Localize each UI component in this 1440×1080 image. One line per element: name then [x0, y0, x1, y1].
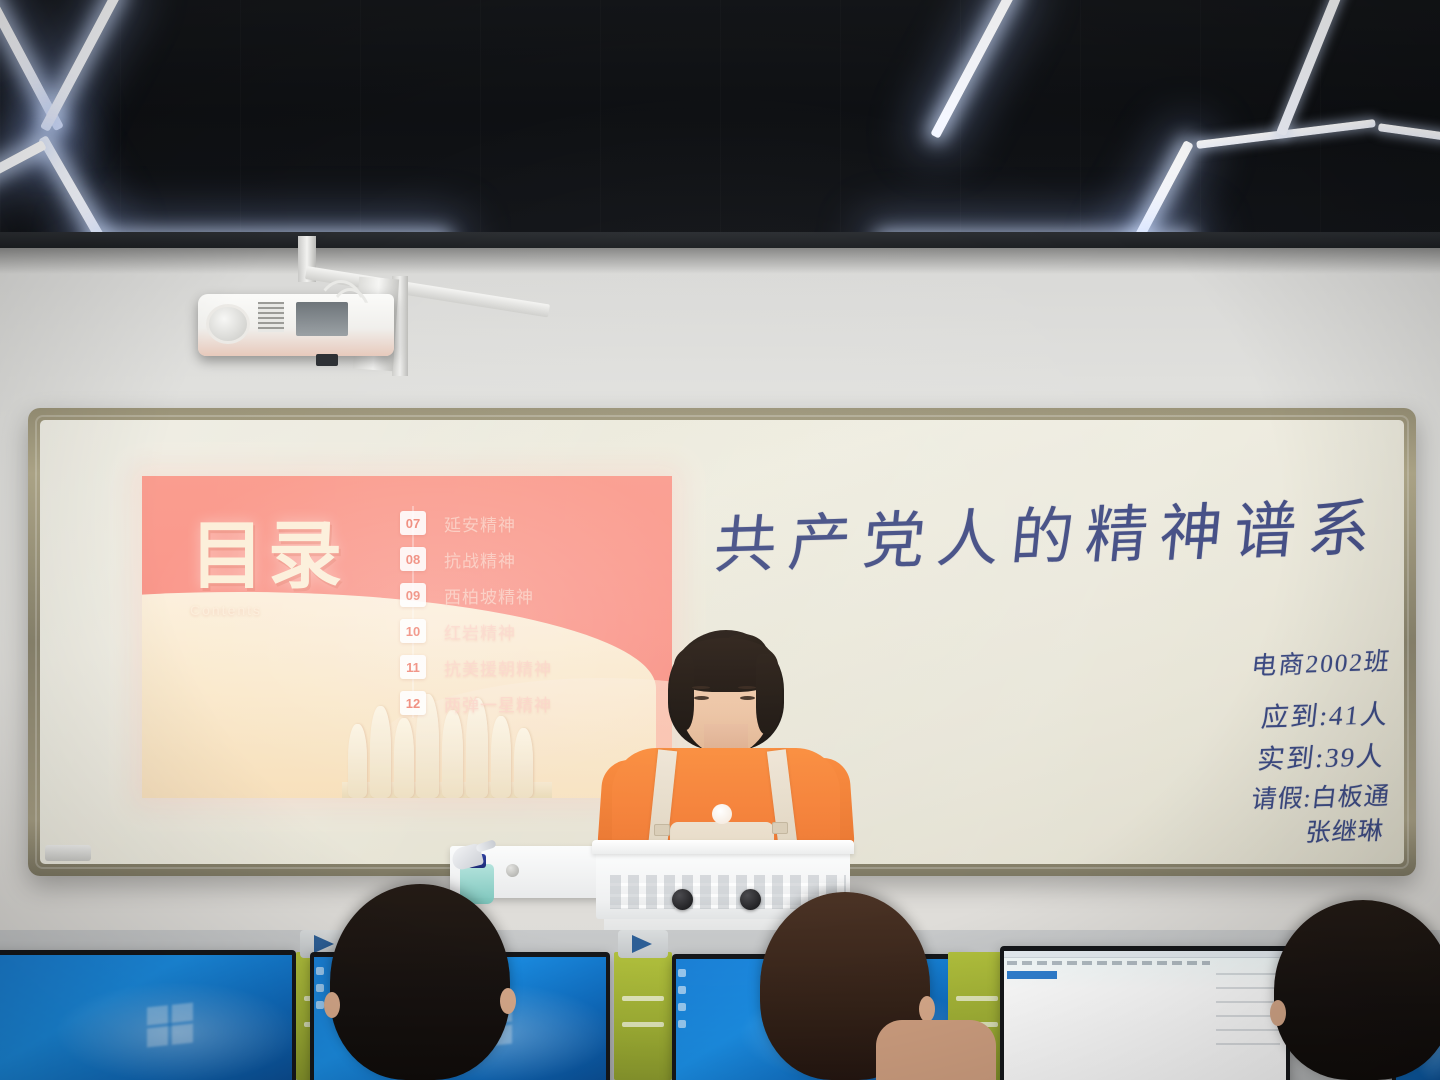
- app-toolbar[interactable]: [1007, 961, 1210, 965]
- monument-figure: [442, 710, 463, 798]
- slide-title-block: 目录 Contents: [190, 520, 410, 670]
- podium-knob-right[interactable]: [740, 889, 761, 910]
- taskbar-icon[interactable]: [316, 984, 324, 992]
- slide-title-en: Contents: [190, 602, 410, 618]
- monument-figure: [491, 716, 511, 798]
- student-neck: [876, 1020, 996, 1080]
- projector: [188, 236, 438, 386]
- projected-slide: 目录 Contents 07 延安精神 08 抗战精神 09 西柏坡精神 10 …: [142, 476, 672, 798]
- presenter-strap-buckle-left: [654, 824, 670, 836]
- toc-label: 抗美援朝精神: [444, 655, 552, 680]
- list-item: 08 抗战精神: [400, 542, 650, 576]
- toc-label: 西柏坡精神: [444, 583, 534, 608]
- whiteboard-class-text: 电商2002班: [1250, 642, 1393, 683]
- app-selected-cell[interactable]: [1007, 971, 1057, 979]
- toc-number: 09: [400, 583, 426, 607]
- slide-title-cn: 目录: [190, 520, 410, 594]
- whiteboard-expected-text: 应到:41人: [1260, 692, 1392, 734]
- whiteboard-actual-text: 实到:39人: [1256, 734, 1388, 776]
- presenter-hair-right: [756, 654, 782, 734]
- monument-figure: [370, 706, 391, 798]
- divider-slot: [956, 996, 998, 1001]
- monitor-screen-windows-desktop[interactable]: [0, 955, 292, 1080]
- divider-slot: [622, 1022, 664, 1027]
- whiteboard-clip: [45, 845, 91, 861]
- spray-bottle-nozzle: [475, 839, 496, 853]
- podium-top-surface: [592, 840, 854, 854]
- monument-figure: [348, 724, 367, 798]
- windows-logo-icon: [147, 1003, 193, 1048]
- app-menubar[interactable]: [1004, 951, 1286, 958]
- ceiling: [0, 0, 1440, 250]
- taskbar-icon[interactable]: [316, 967, 324, 975]
- shelf-screw: [506, 864, 519, 877]
- monument-figure: [394, 718, 414, 798]
- presenter-shirt-logo-icon: [712, 804, 732, 824]
- divider-slot: [622, 996, 664, 1001]
- student-monitor[interactable]: [1000, 946, 1290, 1080]
- student-ear: [1270, 1000, 1286, 1026]
- taskbar-icon[interactable]: [316, 1001, 324, 1009]
- student-head: [1274, 900, 1440, 1080]
- student-monitor[interactable]: [0, 950, 296, 1080]
- sail-logo-icon: [314, 935, 334, 953]
- toc-label: 红岩精神: [444, 619, 516, 644]
- student-desk-row: [0, 930, 1440, 1080]
- whiteboard-leave-name-text: 张继琳: [1304, 811, 1386, 849]
- presenter-eyebrow-left: [692, 686, 710, 689]
- toc-number: 07: [400, 511, 426, 535]
- student-head: [330, 884, 510, 1080]
- toc-number: 12: [400, 691, 426, 715]
- presenter-strap-buckle-right: [772, 822, 788, 834]
- toc-number: 08: [400, 547, 426, 571]
- desk-divider-panel: [614, 952, 672, 1080]
- list-item: 07 延安精神: [400, 506, 650, 540]
- desk-divider-logo: [618, 930, 668, 958]
- toc-label: 抗战精神: [444, 547, 516, 572]
- projector-vent: [258, 302, 284, 332]
- whiteboard-leave-text: 请假:白板通: [1250, 776, 1393, 816]
- presenter-eye-left: [694, 696, 709, 700]
- student-ear: [500, 988, 516, 1014]
- sail-logo-icon: [632, 935, 652, 953]
- list-item: 09 西柏坡精神: [400, 578, 650, 612]
- projector-foot: [316, 354, 338, 366]
- student-ear: [919, 996, 935, 1022]
- classroom-photo-scene: 目录 Contents 07 延安精神 08 抗战精神 09 西柏坡精神 10 …: [0, 0, 1440, 1080]
- toc-number: 11: [400, 655, 426, 679]
- taskbar-icon[interactable]: [678, 1020, 686, 1028]
- ceiling-panel-lines: [0, 0, 1440, 250]
- taskbar-icon-group[interactable]: [678, 969, 690, 1080]
- whiteboard-title-text: 共产党人的精神谱系: [711, 477, 1388, 584]
- student-ear: [324, 992, 340, 1018]
- podium-knob-left[interactable]: [672, 889, 693, 910]
- toc-label: 两弹一星精神: [444, 691, 552, 716]
- monitor-screen-application[interactable]: [1004, 951, 1286, 1080]
- taskbar-icon[interactable]: [678, 986, 686, 994]
- toc-label: 延安精神: [444, 511, 516, 536]
- presenter-eye-right: [740, 696, 755, 700]
- presenter-hair-left: [670, 656, 694, 730]
- taskbar-icon[interactable]: [678, 969, 686, 977]
- projector-lens-icon: [206, 304, 250, 344]
- monument-figure: [514, 728, 533, 798]
- toc-number: 10: [400, 619, 426, 643]
- presenter-eyebrow-right: [738, 686, 756, 689]
- taskbar-icon-group[interactable]: [0, 965, 4, 1080]
- taskbar-icon-group[interactable]: [316, 967, 328, 1080]
- taskbar-icon[interactable]: [678, 1003, 686, 1011]
